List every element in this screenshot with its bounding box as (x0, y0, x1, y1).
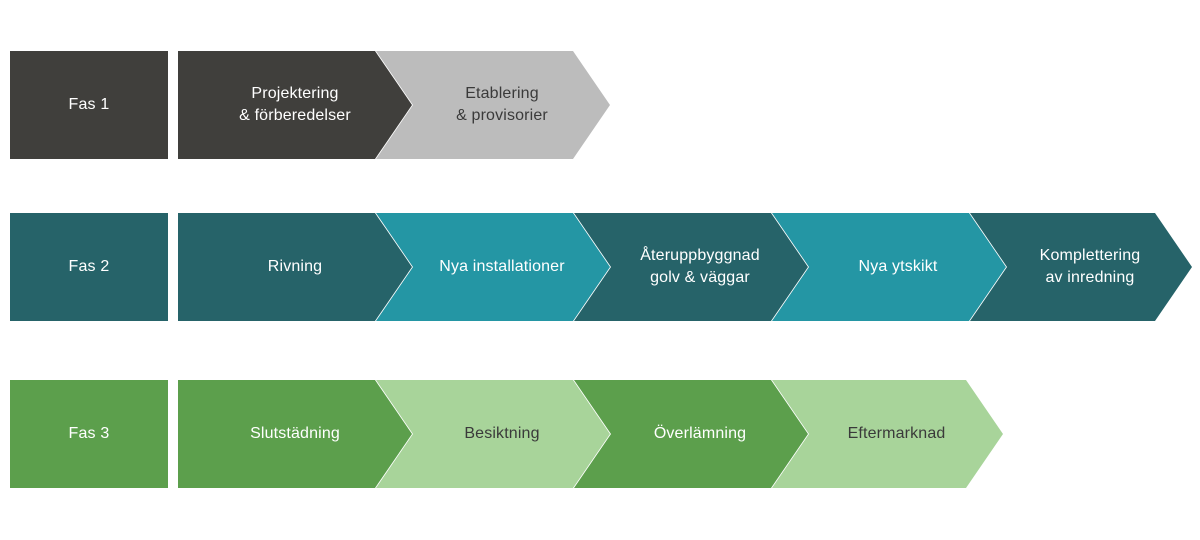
phase-step-label: Överlämning (626, 423, 756, 445)
phase-label-text: Fas 3 (68, 423, 109, 445)
phase-diagram: Fas 1Projektering & förberedelserEtabler… (0, 0, 1200, 540)
phase-label-fas-2[interactable]: Fas 2 (10, 213, 168, 321)
phase-row-fas-2: Fas 2RivningNya installationerÅteruppbyg… (0, 213, 1200, 321)
phase-step-label: Slutstädning (240, 423, 350, 445)
phase-step-label: Nya installationer (411, 256, 574, 278)
phase-step-label: Komplettering av inredning (1012, 245, 1151, 289)
phase-step-projektering-forberedelser[interactable]: Projektering & förberedelser (178, 51, 412, 159)
phase-step-slutstadning[interactable]: Slutstädning (178, 380, 412, 488)
phase-step-label: Projektering & förberedelser (229, 83, 361, 127)
phase-row-fas-1: Fas 1Projektering & förberedelserEtabler… (0, 51, 1200, 159)
phase-step-label: Etablering & provisorier (428, 83, 558, 127)
phase-step-label: Rivning (258, 256, 332, 278)
phase-step-rivning[interactable]: Rivning (178, 213, 412, 321)
phase-step-label: Besiktning (436, 423, 549, 445)
phase-step-label: Eftermarknad (820, 423, 956, 445)
phase-label-text: Fas 1 (68, 94, 109, 116)
phase-row-fas-3: Fas 3SlutstädningBesiktningÖverlämningEf… (0, 380, 1200, 488)
phase-label-fas-1[interactable]: Fas 1 (10, 51, 168, 159)
phase-step-label: Nya ytskikt (831, 256, 948, 278)
phase-label-fas-3[interactable]: Fas 3 (10, 380, 168, 488)
phase-label-text: Fas 2 (68, 256, 109, 278)
phase-step-label: Återuppbyggnad golv & väggar (612, 245, 770, 289)
